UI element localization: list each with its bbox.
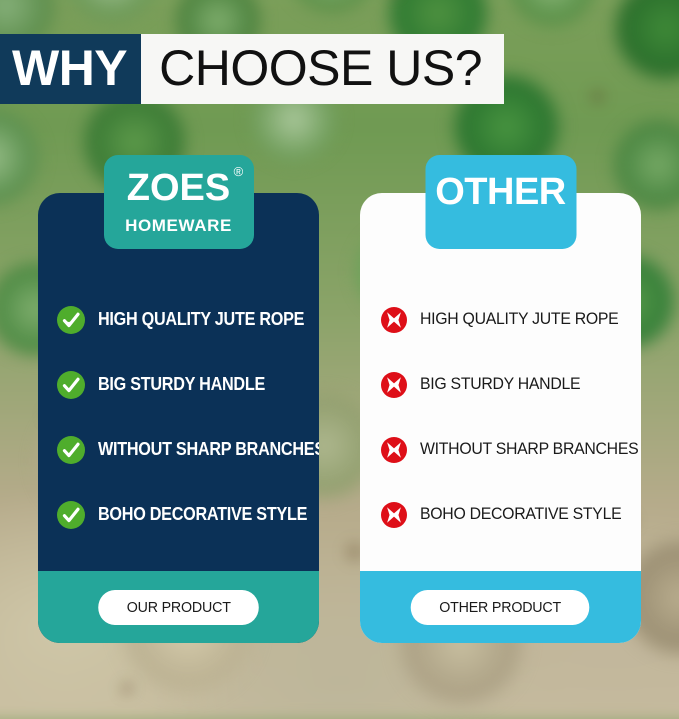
feature-label: BOHO DECORATIVE STYLE (420, 505, 621, 524)
feature-label: BOHO DECORATIVE STYLE (98, 504, 307, 525)
cross-icon (381, 307, 407, 333)
feature-label: HIGH QUALITY JUTE ROPE (98, 309, 304, 330)
brand-logo: ZOES® (127, 169, 230, 207)
card-body-ours: HIGH QUALITY JUTE ROPE BIG STURDY HANDLE… (38, 193, 319, 643)
check-icon (57, 306, 85, 334)
card-body-other: HIGH QUALITY JUTE ROPE BIG STURDY HANDLE… (360, 193, 641, 643)
feature-list-other: HIGH QUALITY JUTE ROPE BIG STURDY HANDLE… (360, 193, 641, 571)
comparison-card-other: HIGH QUALITY JUTE ROPE BIG STURDY HANDLE… (360, 155, 641, 643)
list-item: WITHOUT SHARP BRANCHES (38, 417, 319, 482)
check-icon (57, 371, 85, 399)
list-item: BOHO DECORATIVE STYLE (360, 482, 641, 547)
card-footer-other: OTHER PRODUCT (360, 571, 641, 643)
brand-subtitle: HOMEWARE (104, 216, 254, 236)
feature-label: HIGH QUALITY JUTE ROPE (420, 310, 618, 329)
feature-list-ours: HIGH QUALITY JUTE ROPE BIG STURDY HANDLE… (38, 193, 319, 571)
list-item: WITHOUT SHARP BRANCHES (360, 417, 641, 482)
list-item: HIGH QUALITY JUTE ROPE (38, 287, 319, 352)
list-item: BIG STURDY HANDLE (38, 352, 319, 417)
feature-label: BIG STURDY HANDLE (420, 375, 580, 394)
cross-icon (381, 372, 407, 398)
label-tab-other: OTHER (425, 155, 576, 249)
title-rest: CHOOSE US? (141, 34, 504, 104)
comparison-card-ours: HIGH QUALITY JUTE ROPE BIG STURDY HANDLE… (38, 155, 319, 643)
brand-name-text: ZOES (127, 167, 230, 209)
feature-label: WITHOUT SHARP BRANCHES (420, 440, 638, 459)
brand-tab-ours: ZOES® HOMEWARE (104, 155, 254, 249)
cross-icon (381, 437, 407, 463)
list-item: BOHO DECORATIVE STYLE (38, 482, 319, 547)
check-icon (57, 436, 85, 464)
other-tab-label: OTHER (425, 173, 576, 211)
registered-trademark-icon: ® (234, 165, 244, 178)
check-icon (57, 501, 85, 529)
our-product-button[interactable]: OUR PRODUCT (98, 590, 259, 625)
feature-label: WITHOUT SHARP BRANCHES (98, 439, 319, 460)
list-item: HIGH QUALITY JUTE ROPE (360, 287, 641, 352)
title-highlight-word: WHY (0, 34, 141, 104)
feature-label: BIG STURDY HANDLE (98, 374, 265, 395)
card-footer-ours: OUR PRODUCT (38, 571, 319, 643)
page-title: WHY CHOOSE US? (0, 34, 504, 104)
cross-icon (381, 502, 407, 528)
other-product-button[interactable]: OTHER PRODUCT (411, 590, 590, 625)
list-item: BIG STURDY HANDLE (360, 352, 641, 417)
